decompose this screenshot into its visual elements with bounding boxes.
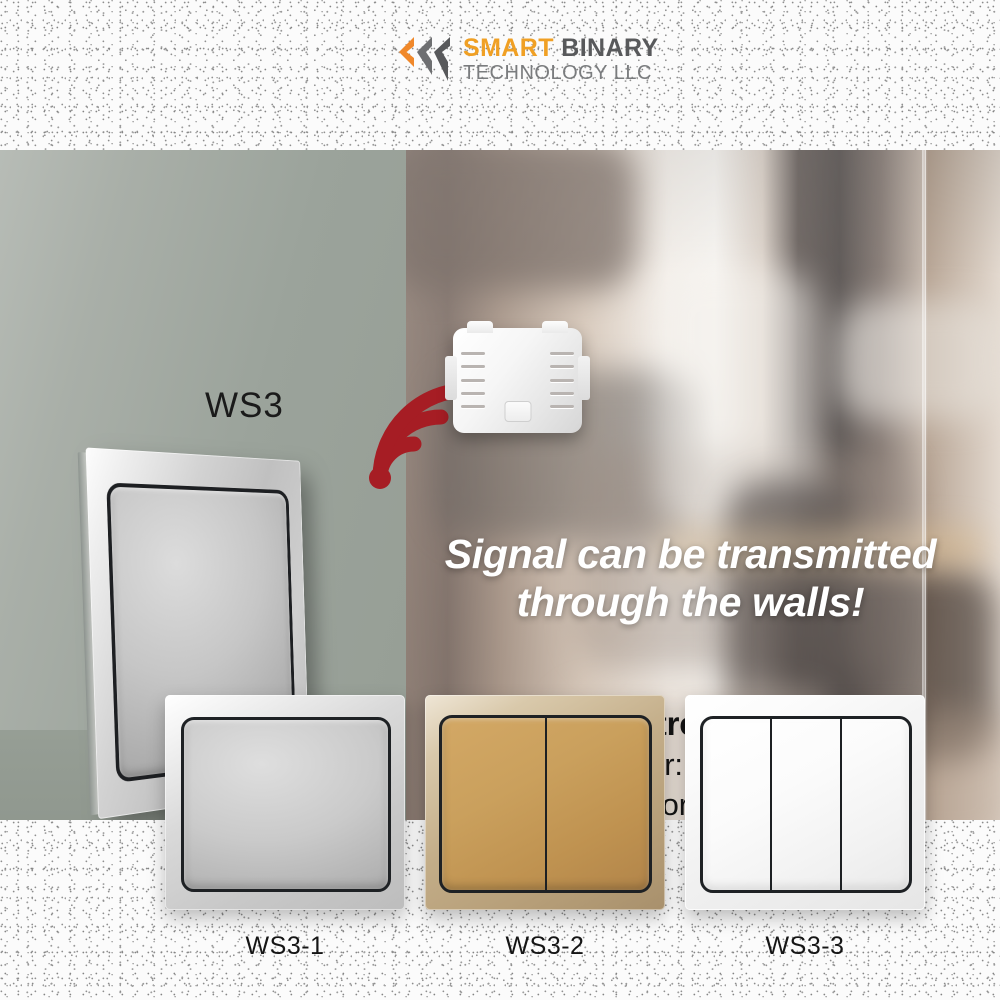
relay-vents-left [461, 352, 485, 408]
product-ws3-3 [685, 695, 925, 910]
product-ws3-3-keys [700, 716, 912, 893]
relay-ear-right [542, 321, 568, 333]
rocker-key[interactable] [770, 719, 839, 890]
product-ws3-2-keys [439, 715, 652, 893]
brand-logo: SMART BINARY TECHNOLOGY LLC [392, 30, 632, 88]
product-ws3-3-plate [685, 695, 925, 910]
headline-line-1: Signal can be transmitted [418, 530, 963, 578]
rocker-key[interactable] [545, 718, 650, 890]
relay-pair-button[interactable] [504, 401, 531, 422]
brand-name-line: SMART BINARY [463, 36, 659, 61]
product-ws3-1-plate [165, 695, 405, 910]
product-ws3-2 [425, 695, 665, 910]
brand-tagline: TECHNOLOGY LLC [463, 63, 659, 83]
rocker-key[interactable] [442, 718, 545, 890]
product-caption-ws3-2: WS3-2 [425, 932, 665, 961]
hero-product-code: WS3 [205, 386, 284, 426]
headline-line-2: through the walls! [418, 578, 963, 626]
brand-name-primary: SMART [463, 34, 554, 62]
brand-name-secondary: BINARY [561, 34, 658, 62]
relay-ear-left [467, 321, 493, 333]
rocker-key[interactable] [840, 719, 909, 890]
product-caption-ws3-3: WS3-3 [685, 932, 925, 961]
product-ws3-1-keys [181, 717, 391, 892]
product-ws3-2-plate [425, 695, 665, 910]
triple-chevron-logo-icon [392, 35, 454, 83]
relay-tab-right [578, 356, 590, 400]
product-promo-image: SMART BINARY TECHNOLOGY LLC [0, 0, 1000, 1000]
relay-module [453, 328, 582, 433]
headline-text: Signal can be transmitted through the wa… [418, 530, 963, 627]
rocker-key[interactable] [703, 719, 770, 890]
relay-tab-left [445, 356, 457, 400]
brand-wordmark: SMART BINARY TECHNOLOGY LLC [463, 36, 659, 83]
product-ws3-1 [165, 695, 405, 910]
product-caption-ws3-1: WS3-1 [165, 932, 405, 961]
rocker-key[interactable] [184, 720, 388, 889]
relay-vents-right [550, 352, 574, 408]
